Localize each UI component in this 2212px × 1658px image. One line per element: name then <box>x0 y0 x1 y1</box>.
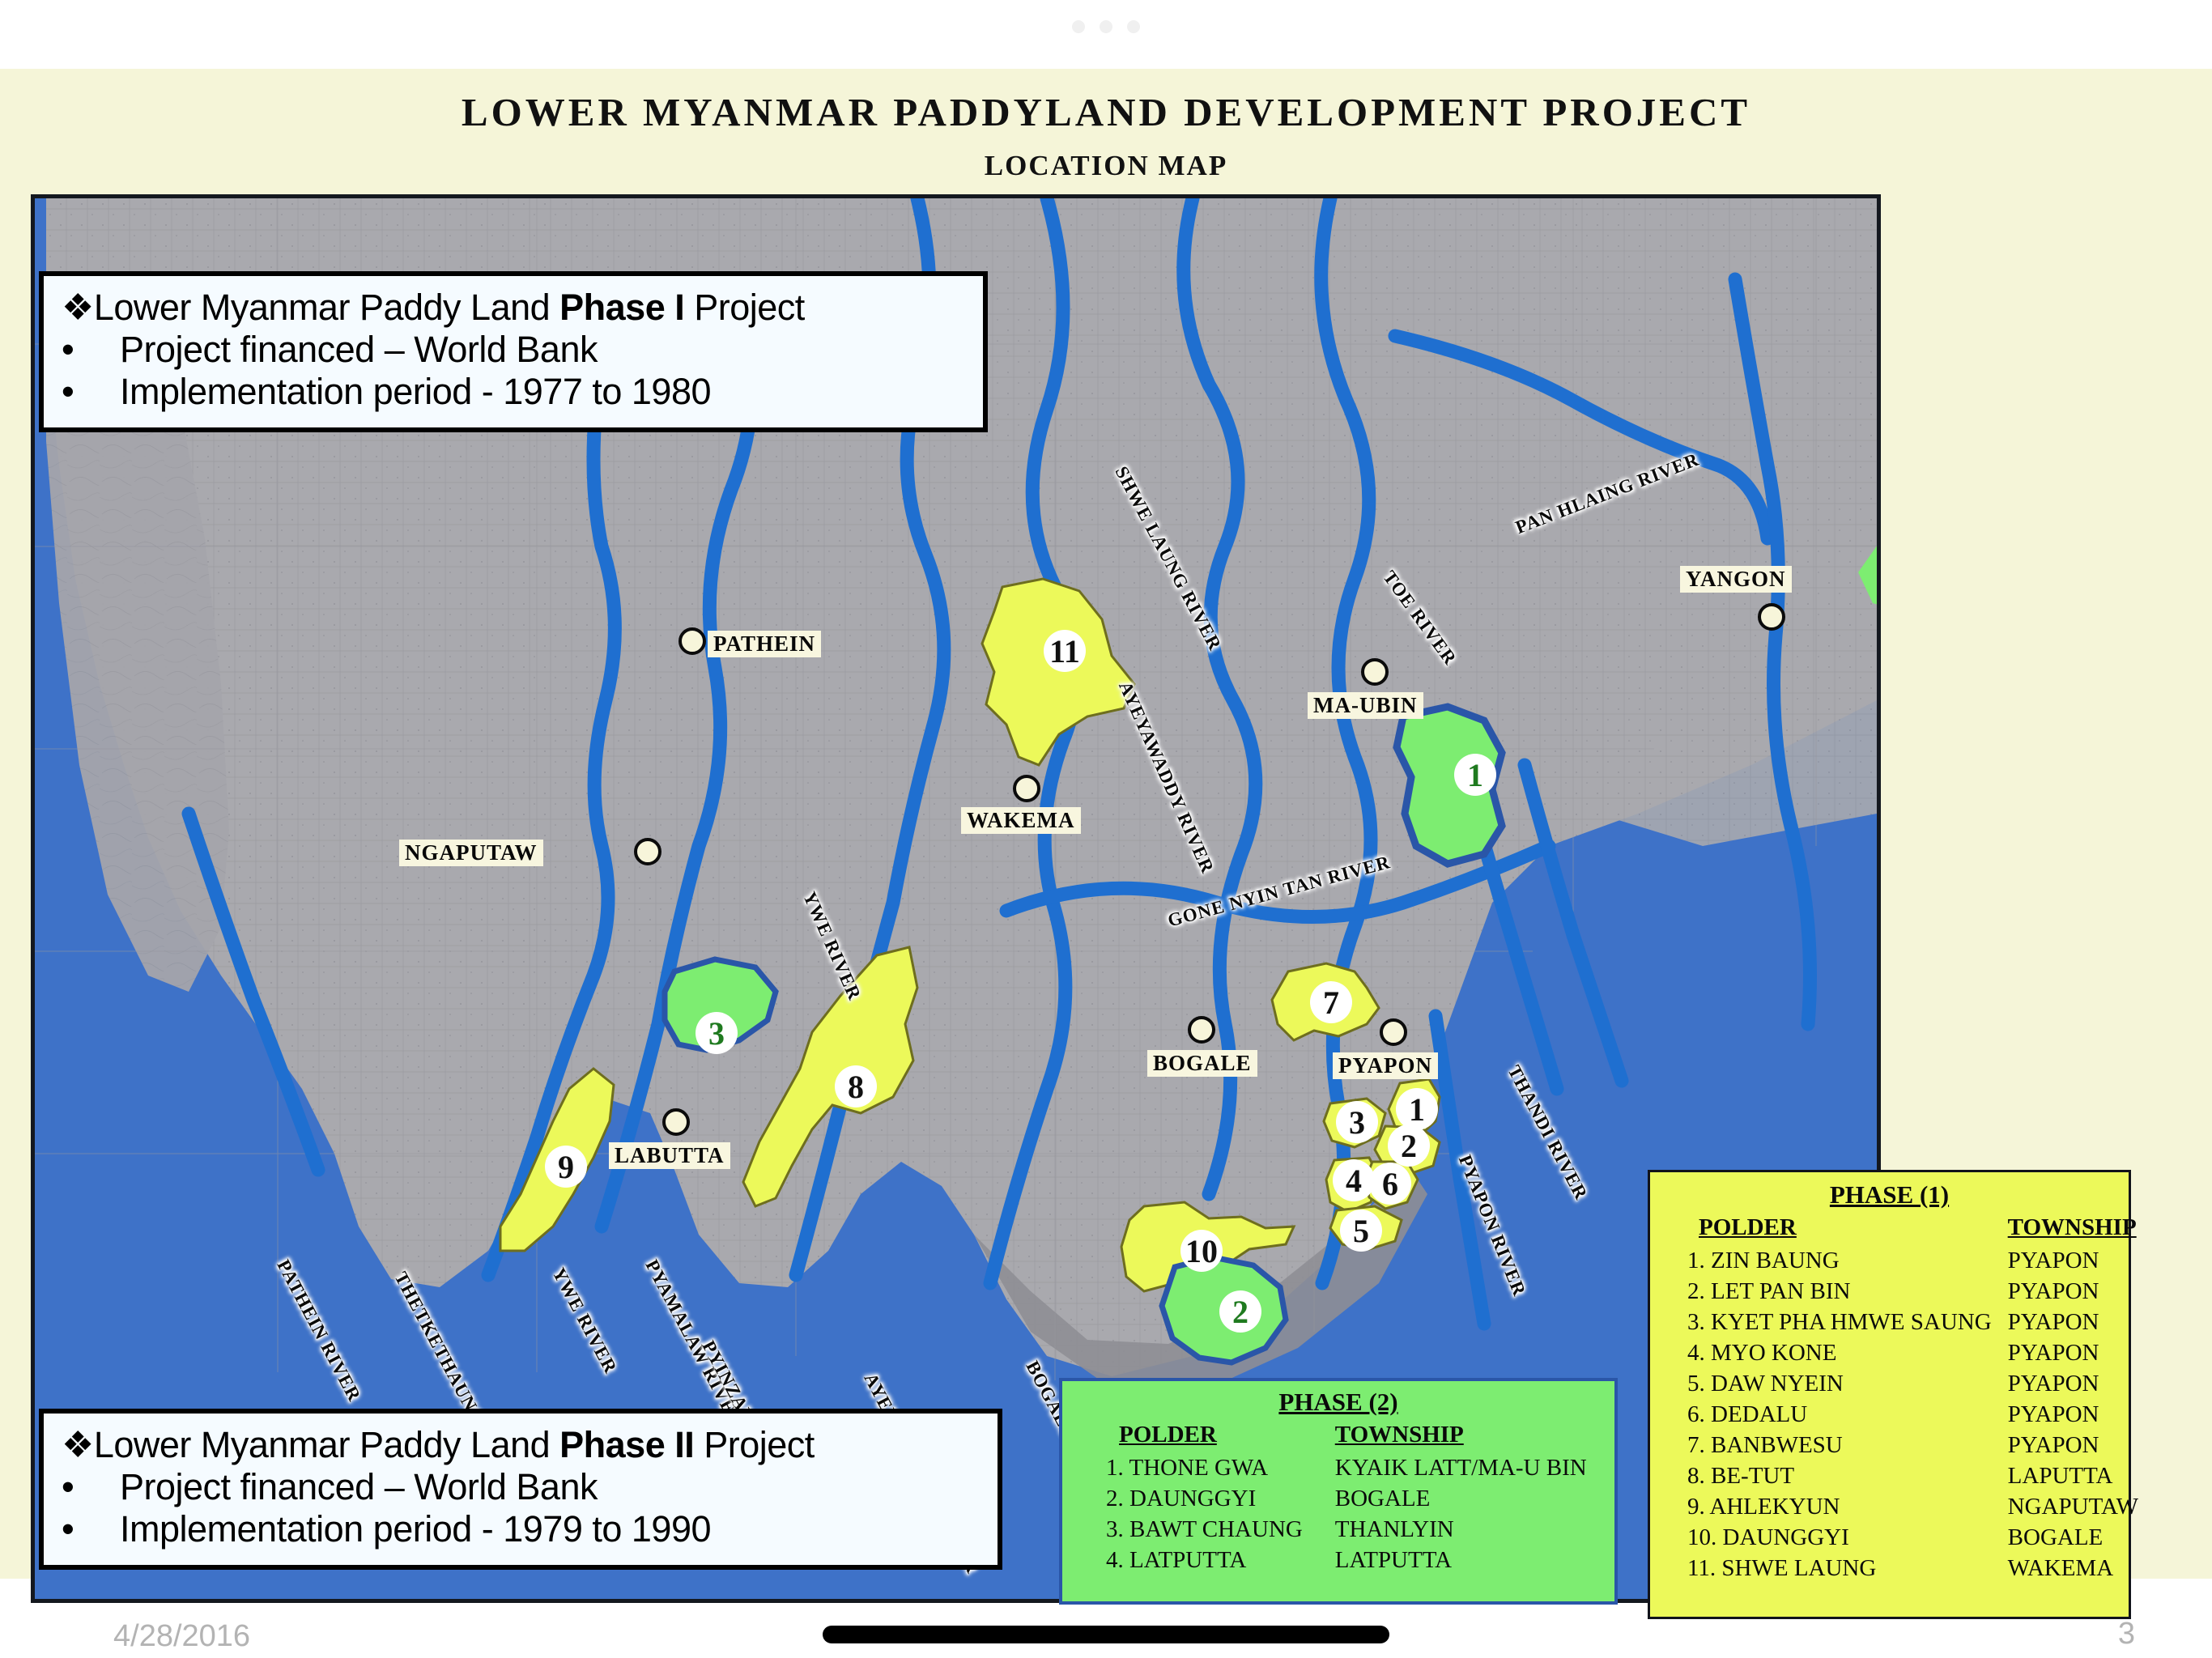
polder-number-badge-phase1-6: 6 <box>1369 1163 1411 1205</box>
handle-dot-2 <box>1100 20 1112 33</box>
city-dot-icon <box>678 627 706 655</box>
polder-number-badge-phase1-2: 2 <box>1388 1124 1430 1167</box>
polder-number-badge-phase1-5: 5 <box>1340 1209 1382 1252</box>
city-dot-icon <box>1758 603 1785 631</box>
legend-phase-2-township: BOGALE <box>1311 1483 1597 1514</box>
legend-phase-2-row: 2. DAUNGGYIBOGALE <box>1080 1483 1597 1514</box>
callout-phase-1-heading-prefix: Lower Myanmar Paddy Land <box>94 287 559 328</box>
polder-number-badge-phase2-1: 1 <box>1454 754 1496 796</box>
page-title: LOWER MYANMAR PADDYLAND DEVELOPMENT PROJ… <box>0 89 2212 135</box>
bullet-marker-icon: • <box>62 1466 120 1508</box>
legend-phase-2-township: LATPUTTA <box>1311 1545 1597 1575</box>
legend-phase-1-row: 1. ZIN BAUNGPYAPON <box>1666 1245 2138 1276</box>
legend-phase-1-township: NGAPUTAW <box>1992 1491 2138 1522</box>
slide-root: LOWER MYANMAR PADDYLAND DEVELOPMENT PROJ… <box>0 0 2212 1658</box>
city-dot-icon <box>634 838 661 865</box>
legend-phase-1-township: PYAPON <box>1992 1430 2138 1460</box>
callout-phase-1-heading-suffix: Project <box>684 287 805 328</box>
legend-phase-1-polder: 4. MYO KONE <box>1666 1337 1992 1368</box>
legend-phase-1-row: 7. BANBWESUPYAPON <box>1666 1430 2138 1460</box>
callout-phase-2-bullet-2: • Implementation period - 1979 to 1990 <box>62 1508 981 1550</box>
legend-phase-1-polder: 3. KYET PHA HMWE SAUNG <box>1666 1307 1992 1337</box>
legend-phase-1-polder: 9. AHLEKYUN <box>1666 1491 1992 1522</box>
legend-phase-1-header-polder: POLDER <box>1666 1214 1992 1245</box>
polder-number-badge-phase1-11: 11 <box>1044 630 1086 672</box>
polder-number-badge-phase2-2: 2 <box>1219 1290 1261 1333</box>
city-dot-icon <box>662 1108 690 1136</box>
callout-diamond-icon: ❖ <box>62 287 94 328</box>
legend-phase-1: PHASE (1) POLDER TOWNSHIP 1. ZIN BAUNGPY… <box>1648 1170 2131 1619</box>
city-label: LABUTTA <box>609 1142 730 1169</box>
legend-phase-1-row: 2. LET PAN BINPYAPON <box>1666 1276 2138 1307</box>
slide-canvas: LOWER MYANMAR PADDYLAND DEVELOPMENT PROJ… <box>0 69 2212 1579</box>
legend-phase-1-row: 9. AHLEKYUNNGAPUTAW <box>1666 1491 2138 1522</box>
legend-phase-1-table: POLDER TOWNSHIP 1. ZIN BAUNGPYAPON2. LET… <box>1666 1214 2138 1584</box>
legend-phase-2-polder: 3. BAWT CHAUNG <box>1080 1514 1311 1545</box>
bullet-marker-icon: • <box>62 329 120 371</box>
callout-phase-1-bullet-2: • Implementation period - 1977 to 1980 <box>62 371 967 413</box>
home-indicator[interactable] <box>823 1626 1389 1643</box>
callout-phase-1-bullet-1-text: Project financed – World Bank <box>120 329 598 371</box>
callout-phase-1-bullet-1: • Project financed – World Bank <box>62 329 967 371</box>
polder-number-badge-phase1-8: 8 <box>835 1065 877 1107</box>
callout-phase-2-heading: ❖Lower Myanmar Paddy Land Phase II Proje… <box>62 1425 981 1466</box>
callout-diamond-icon: ❖ <box>62 1424 94 1465</box>
city-dot-icon <box>1013 775 1040 802</box>
footer-page-number: 3 <box>2118 1617 2135 1652</box>
legend-phase-2-township: KYAIK LATT/MA-U BIN <box>1311 1452 1597 1483</box>
legend-phase-1-row: 6. DEDALUPYAPON <box>1666 1399 2138 1430</box>
polder-number-badge-phase1-9: 9 <box>545 1146 587 1188</box>
legend-phase-2-row: 1. THONE GWAKYAIK LATT/MA-U BIN <box>1080 1452 1597 1483</box>
legend-phase-1-row: 11. SHWE LAUNGWAKEMA <box>1666 1553 2138 1584</box>
callout-phase-2-bullet-1-text: Project financed – World Bank <box>120 1466 598 1508</box>
legend-phase-2-row: 3. BAWT CHAUNGTHANLYIN <box>1080 1514 1597 1545</box>
city-label: NGAPUTAW <box>399 840 543 866</box>
legend-phase-2-polder: 2. DAUNGGYI <box>1080 1483 1311 1514</box>
legend-phase-2-title: PHASE (2) <box>1080 1388 1597 1417</box>
legend-phase-1-row: 4. MYO KONEPYAPON <box>1666 1337 2138 1368</box>
legend-phase-1-polder: 5. DAW NYEIN <box>1666 1368 1992 1399</box>
legend-phase-2: PHASE (2) POLDER TOWNSHIP 1. THONE GWAKY… <box>1059 1378 1618 1605</box>
legend-phase-2-polder: 4. LATPUTTA <box>1080 1545 1311 1575</box>
legend-phase-1-township: PYAPON <box>1992 1276 2138 1307</box>
callout-phase-2-bullet-2-text: Implementation period - 1979 to 1990 <box>120 1508 711 1550</box>
callout-phase-2-heading-suffix: Project <box>694 1424 815 1465</box>
bullet-marker-icon: • <box>62 371 120 413</box>
legend-phase-2-table: POLDER TOWNSHIP 1. THONE GWAKYAIK LATT/M… <box>1080 1422 1597 1575</box>
legend-phase-1-township: PYAPON <box>1992 1307 2138 1337</box>
callout-phase-2[interactable]: ❖Lower Myanmar Paddy Land Phase II Proje… <box>39 1409 1002 1570</box>
legend-phase-1-township: PYAPON <box>1992 1245 2138 1276</box>
legend-phase-1-polder: 11. SHWE LAUNG <box>1666 1553 1992 1584</box>
bullet-marker-icon: • <box>62 1508 120 1550</box>
footer-date: 4/28/2016 <box>113 1619 250 1654</box>
city-label: BOGALE <box>1147 1050 1257 1077</box>
legend-phase-1-polder: 7. BANBWESU <box>1666 1430 1992 1460</box>
legend-phase-2-header-polder: POLDER <box>1080 1422 1311 1452</box>
polder-number-badge-phase1-1: 1 <box>1396 1088 1438 1130</box>
legend-phase-1-township: PYAPON <box>1992 1399 2138 1430</box>
city-label: WAKEMA <box>961 807 1081 834</box>
legend-phase-1-row: 5. DAW NYEINPYAPON <box>1666 1368 2138 1399</box>
city-dot-icon <box>1380 1018 1407 1046</box>
handle-dot-1 <box>1072 20 1085 33</box>
legend-phase-1-township: LAPUTTA <box>1992 1460 2138 1491</box>
polder-number-badge-phase2-3: 3 <box>696 1012 738 1054</box>
legend-phase-1-row: 3. KYET PHA HMWE SAUNGPYAPON <box>1666 1307 2138 1337</box>
handle-dot-3 <box>1127 20 1140 33</box>
callout-phase-2-bullet-1: • Project financed – World Bank <box>62 1466 981 1508</box>
legend-phase-1-polder: 10. DAUNGGYI <box>1666 1522 1992 1553</box>
drag-handle[interactable] <box>0 13 2212 40</box>
callout-phase-1[interactable]: ❖Lower Myanmar Paddy Land Phase I Projec… <box>39 271 988 432</box>
legend-phase-1-polder: 8. BE-TUT <box>1666 1460 1992 1491</box>
callout-phase-1-heading-bold: Phase I <box>559 287 684 328</box>
legend-phase-2-row: 4. LATPUTTA LATPUTTA <box>1080 1545 1597 1575</box>
city-label: YANGON <box>1680 566 1792 593</box>
city-dot-icon <box>1188 1016 1215 1044</box>
legend-phase-1-title: PHASE (1) <box>1666 1180 2112 1209</box>
city-label: PYAPON <box>1333 1052 1438 1079</box>
legend-phase-1-row: 10. DAUNGGYIBOGALE <box>1666 1522 2138 1553</box>
page-subtitle: LOCATION MAP <box>0 150 2212 182</box>
legend-phase-1-polder: 2. LET PAN BIN <box>1666 1276 1992 1307</box>
city-label: PATHEIN <box>708 631 821 657</box>
callout-phase-1-heading: ❖Lower Myanmar Paddy Land Phase I Projec… <box>62 287 967 329</box>
legend-phase-1-polder: 6. DEDALU <box>1666 1399 1992 1430</box>
legend-phase-1-township: PYAPON <box>1992 1337 2138 1368</box>
callout-phase-2-heading-prefix: Lower Myanmar Paddy Land <box>94 1424 559 1465</box>
legend-phase-1-header-township: TOWNSHIP <box>1992 1214 2138 1245</box>
polder-number-badge-phase1-3: 3 <box>1336 1101 1378 1143</box>
legend-phase-2-township: THANLYIN <box>1311 1514 1597 1545</box>
legend-phase-1-township: WAKEMA <box>1992 1553 2138 1584</box>
callout-phase-2-heading-bold: Phase II <box>559 1424 694 1465</box>
legend-phase-2-header-township: TOWNSHIP <box>1311 1422 1597 1452</box>
city-label: MA-UBIN <box>1308 692 1423 719</box>
city-dot-icon <box>1361 658 1389 686</box>
legend-phase-1-township: PYAPON <box>1992 1368 2138 1399</box>
legend-phase-1-row: 8. BE-TUTLAPUTTA <box>1666 1460 2138 1491</box>
legend-phase-2-polder: 1. THONE GWA <box>1080 1452 1311 1483</box>
polder-number-badge-phase1-10: 10 <box>1180 1230 1223 1272</box>
polder-number-badge-phase1-7: 7 <box>1310 981 1352 1023</box>
legend-phase-1-township: BOGALE <box>1992 1522 2138 1553</box>
callout-phase-1-bullet-2-text: Implementation period - 1977 to 1980 <box>120 371 711 413</box>
legend-phase-1-polder: 1. ZIN BAUNG <box>1666 1245 1992 1276</box>
